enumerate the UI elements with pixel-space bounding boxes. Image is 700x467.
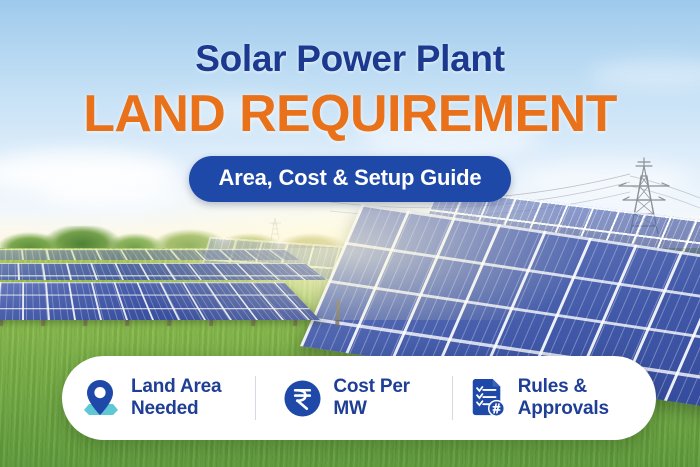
solar-panel-array-mid-left — [0, 263, 326, 280]
page-title-accent: LAND REQUIREMENT — [0, 88, 700, 140]
transmission-tower-far-icon — [268, 218, 282, 240]
location-pin-icon — [80, 377, 120, 419]
headline-block: Solar Power Plant LAND REQUIREMENT Area,… — [0, 40, 700, 202]
document-checklist-icon — [467, 377, 507, 419]
feature-label: Rules & Approvals — [518, 376, 609, 420]
solar-land-requirement-banner: Solar Power Plant LAND REQUIREMENT Area,… — [0, 0, 700, 467]
subtitle-badge: Area, Cost & Setup Guide — [189, 156, 512, 202]
solar-panel-array-back-left — [0, 249, 300, 260]
feature-item-rules-approvals[interactable]: Rules & Approvals — [453, 356, 656, 440]
feature-label: Land Area Needed — [131, 376, 221, 420]
subtitle-pill-wrap: Area, Cost & Setup Guide — [0, 156, 700, 202]
feature-item-land-area[interactable]: Land Area Needed — [62, 356, 255, 440]
feature-label: Cost Per MW — [333, 376, 410, 420]
feature-item-cost-per-mw[interactable]: Cost Per MW — [256, 356, 451, 440]
solar-panel-array-front-left — [0, 282, 320, 320]
page-title: Solar Power Plant — [0, 40, 700, 77]
rupee-circle-icon — [282, 377, 322, 419]
feature-card: Land Area Needed Cost Per MW — [62, 356, 656, 440]
